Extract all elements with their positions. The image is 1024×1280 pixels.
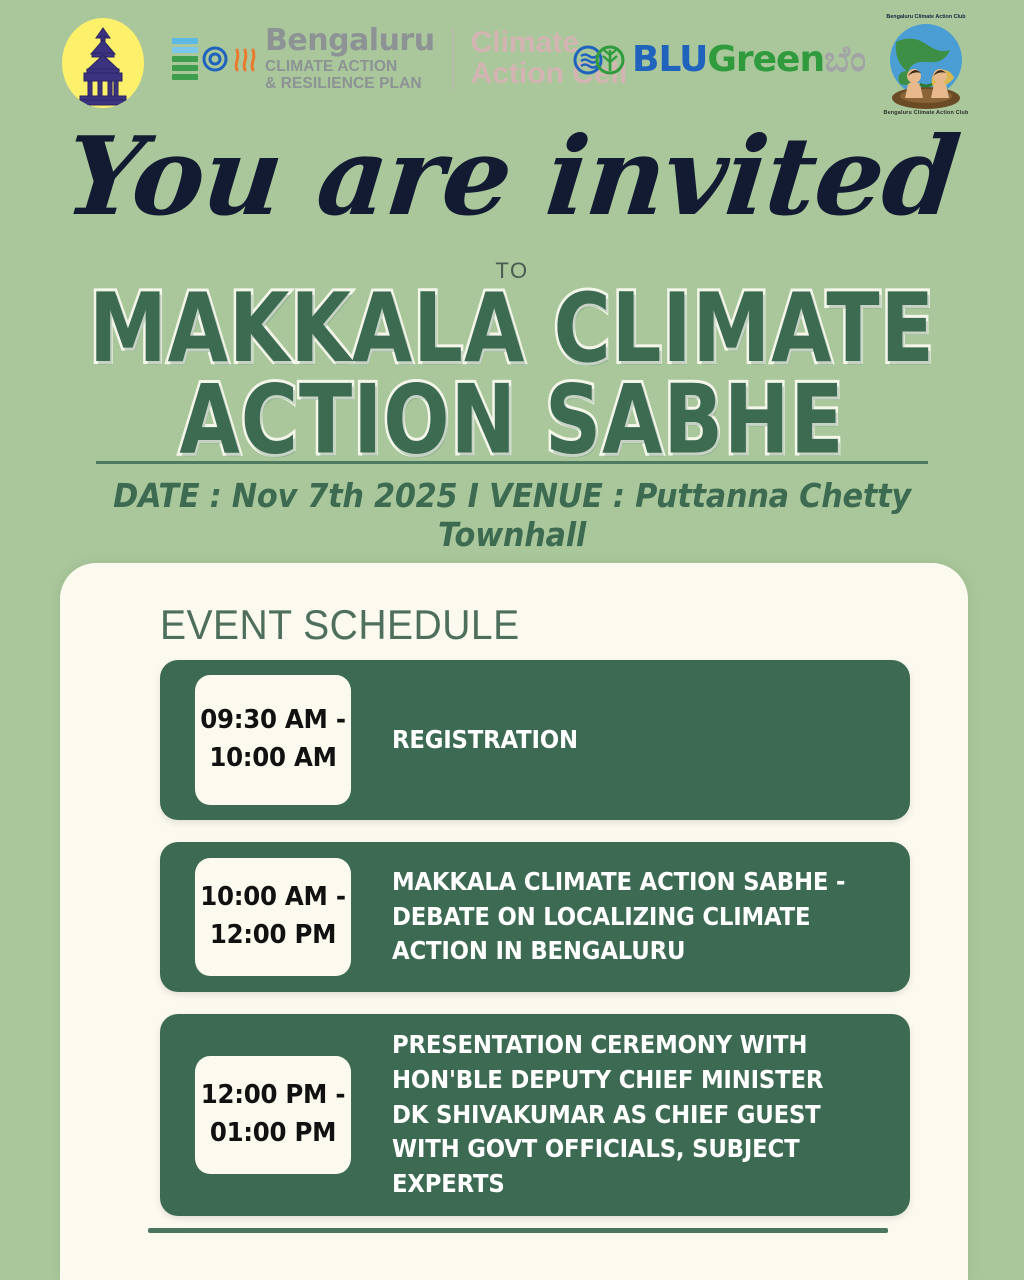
bcap-flames-icon bbox=[232, 46, 258, 72]
invitation-poster: Bengaluru CLIMATE ACTION & RESILIENCE PL… bbox=[0, 0, 1024, 1280]
bcap-logo: Bengaluru CLIMATE ACTION & RESILIENCE PL… bbox=[172, 26, 627, 91]
schedule-row: 09:30 AM - 10:00 AM REGISTRATION bbox=[160, 660, 910, 820]
schedule-time: 12:00 PM - 01:00 PM bbox=[195, 1056, 351, 1174]
bcap-line-1: Bengaluru bbox=[265, 26, 435, 56]
schedule-heading: EVENT SCHEDULE bbox=[160, 601, 520, 649]
blugreen-water-tree-icon bbox=[572, 40, 626, 80]
schedule-description: REGISTRATION bbox=[392, 723, 578, 758]
date-venue-line: DATE : Nov 7th 2025 I VENUE : Puttanna C… bbox=[41, 476, 983, 554]
schedule-time-end: 12:00 PM bbox=[210, 917, 336, 955]
schedule-list: 09:30 AM - 10:00 AM REGISTRATION 10:00 A… bbox=[160, 660, 910, 1238]
schedule-panel: EVENT SCHEDULE 09:30 AM - 10:00 AM REGIS… bbox=[60, 563, 968, 1280]
page-title-line-2: ACTION SABHE bbox=[0, 375, 1024, 466]
date-divider bbox=[96, 461, 928, 464]
bbmp-temple-seal-icon bbox=[62, 18, 144, 108]
schedule-row: 12:00 PM - 01:00 PM PRESENTATION CEREMON… bbox=[160, 1014, 910, 1216]
schedule-description: PRESENTATION CEREMONY WITH HON'BLE DEPUT… bbox=[392, 1028, 857, 1202]
temple-glyph bbox=[66, 24, 140, 108]
logo-bar: Bengaluru CLIMATE ACTION & RESILIENCE PL… bbox=[0, 0, 1024, 122]
schedule-time: 09:30 AM - 10:00 AM bbox=[195, 675, 351, 805]
schedule-row: 10:00 AM - 12:00 PM MAKKALA CLIMATE ACTI… bbox=[160, 842, 910, 992]
schedule-time-start: 10:00 AM - bbox=[200, 879, 345, 917]
schedule-time-start: 09:30 AM - bbox=[200, 702, 345, 740]
schedule-time: 10:00 AM - 12:00 PM bbox=[195, 858, 351, 976]
schedule-time-end: 01:00 PM bbox=[210, 1115, 336, 1153]
page-title-line-1: MAKKALA CLIMATE bbox=[0, 284, 1024, 375]
logo-divider bbox=[452, 28, 454, 90]
bcap-wordmark: Bengaluru CLIMATE ACTION & RESILIENCE PL… bbox=[265, 26, 435, 91]
bcap-logo-marks bbox=[172, 38, 258, 80]
bcap-line-2: CLIMATE ACTION bbox=[265, 59, 435, 75]
page-title: MAKKALA CLIMATE ACTION SABHE bbox=[0, 284, 1024, 467]
bcap-bars-icon bbox=[172, 38, 198, 80]
blugreen-wordmark: BLUGreenಬೆಂ bbox=[632, 42, 865, 78]
blugreen-part-3: ಬೆಂ bbox=[824, 39, 865, 80]
blugreen-part-1: BLU bbox=[632, 39, 707, 80]
blugreen-logo: BLUGreenಬೆಂ bbox=[572, 40, 865, 80]
schedule-description: MAKKALA CLIMATE ACTION SABHE - DEBATE ON… bbox=[392, 865, 857, 969]
bengaluru-climate-action-club-logo: Bengaluru Climate Action Club Bengaluru … bbox=[872, 12, 980, 120]
schedule-time-start: 12:00 PM - bbox=[201, 1077, 345, 1115]
schedule-time-end: 10:00 AM bbox=[209, 740, 336, 778]
globe-children-icon bbox=[872, 12, 980, 120]
panel-bottom-divider bbox=[148, 1228, 888, 1233]
you-are-invited-script: You are invited bbox=[0, 118, 1024, 237]
club-arc-text: Bengaluru Climate Action Club bbox=[872, 14, 980, 20]
blugreen-part-2: Green bbox=[707, 39, 824, 80]
bcap-swirl-icon bbox=[202, 46, 228, 72]
bcap-line-3: & RESILIENCE PLAN bbox=[265, 76, 435, 92]
